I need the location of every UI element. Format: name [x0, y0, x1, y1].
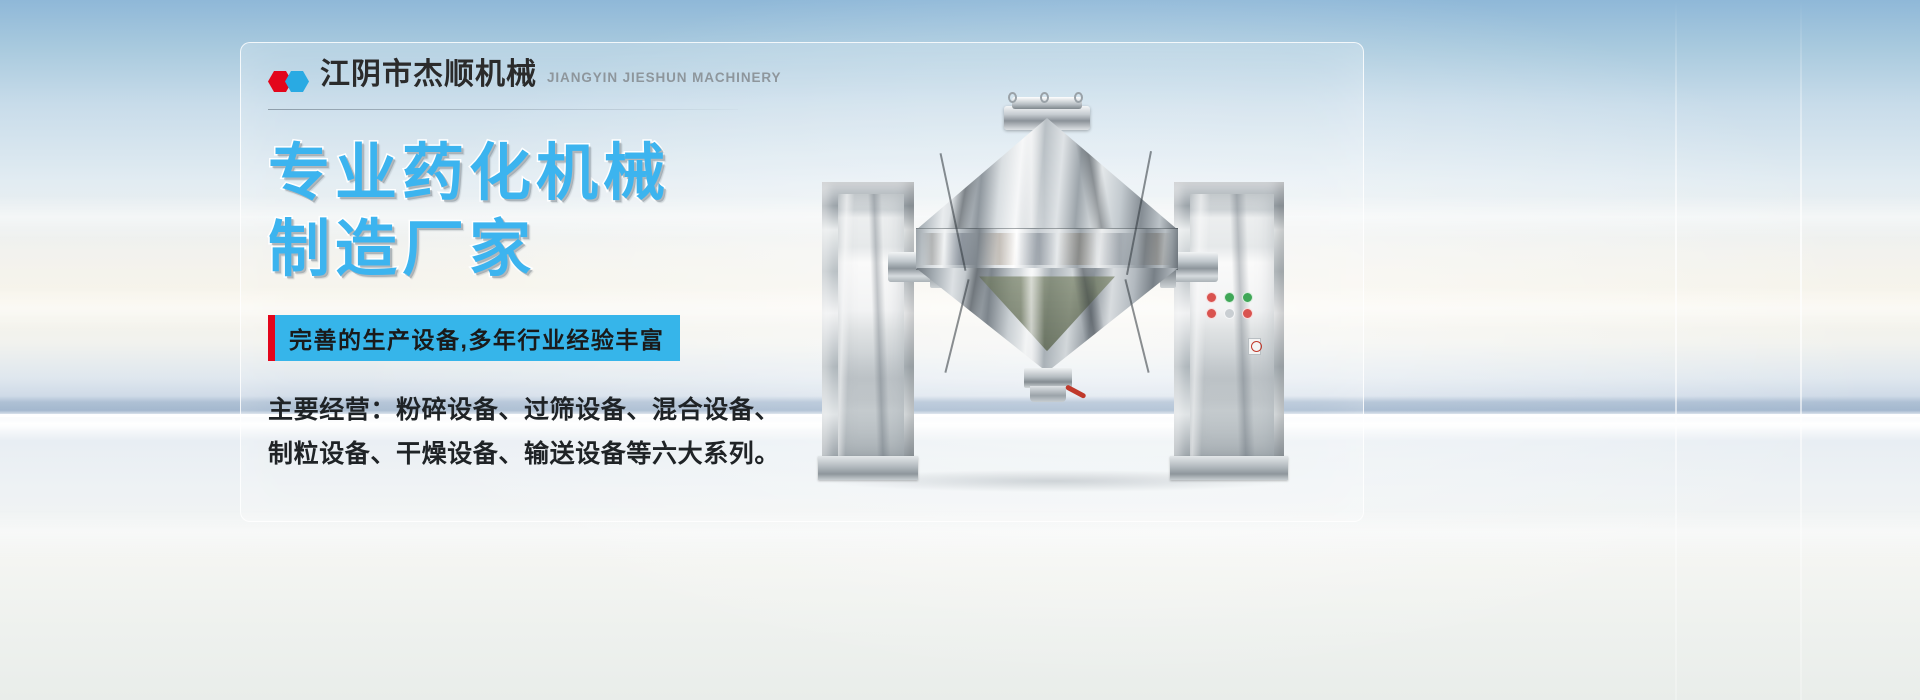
headline-line-1: 专业药化机械: [268, 136, 768, 212]
hero-banner: 江阴市杰顺机械 JIANGYIN JIESHUN MACHINERY 专业药化机…: [0, 0, 1920, 700]
machine-support-leg-left: [822, 182, 914, 480]
business-scope-line-1: 主要经营：粉碎设备、过筛设备、混合设备、: [268, 388, 768, 433]
vessel-discharge-body: [1030, 386, 1066, 402]
control-button-icon: [1206, 292, 1217, 303]
headline: 专业药化机械 制造厂家: [268, 136, 768, 289]
leg-left-reflection: [838, 194, 904, 458]
eyebolt-icon: [1074, 92, 1083, 103]
business-scope-line-2: 制粒设备、干燥设备、输送设备等六大系列。: [268, 432, 768, 477]
reflected-control-buttons-row-1: [1206, 292, 1253, 303]
eyebolt-icon: [1008, 92, 1017, 103]
banner-text-column: 江阴市杰顺机械 JIANGYIN JIESHUN MACHINERY 专业药化机…: [268, 60, 768, 477]
leg-right-reflection: [1190, 194, 1274, 458]
brand-divider: [268, 109, 738, 110]
reflected-control-buttons-row-2: [1206, 308, 1253, 319]
background-glass-pane-right: [1800, 0, 1802, 700]
control-button-icon: [1206, 308, 1217, 319]
machine-double-cone-vessel: [916, 92, 1178, 384]
safety-placard-icon: [1248, 338, 1261, 355]
background-glass-pane-left: [1675, 0, 1677, 700]
machine-support-leg-right: [1174, 182, 1284, 480]
business-scope-paragraph: 主要经营：粉碎设备、过筛设备、混合设备、 制粒设备、干燥设备、输送设备等六大系列…: [268, 388, 768, 477]
control-button-icon: [1242, 292, 1253, 303]
eyebolt-icon: [1040, 92, 1049, 103]
brand-name-cn: 江阴市杰顺机械: [320, 60, 537, 90]
control-button-icon: [1224, 308, 1235, 319]
hexagon-blue-icon: [285, 71, 309, 92]
brand-lockup: 江阴市杰顺机械 JIANGYIN JIESHUN MACHINERY: [268, 60, 768, 100]
brand-name-en: JIANGYIN JIESHUN MACHINERY: [547, 70, 781, 85]
vessel-discharge-valve: [1024, 368, 1072, 388]
leg-right-base: [1170, 456, 1288, 480]
control-button-icon: [1224, 292, 1235, 303]
vessel-lower-cone: [916, 268, 1178, 372]
jieshun-hexagon-logo-icon: [268, 71, 310, 91]
headline-line-2: 制造厂家: [268, 212, 768, 288]
leg-left-base: [818, 456, 918, 480]
vessel-center-band: [916, 228, 1178, 270]
highlight-bar: 完善的生产设备,多年行业经验丰富: [268, 315, 680, 361]
control-button-icon: [1242, 308, 1253, 319]
product-photo-double-cone-dryer: [818, 60, 1288, 480]
highlight-bar-text: 完善的生产设备,多年行业经验丰富: [275, 321, 664, 355]
